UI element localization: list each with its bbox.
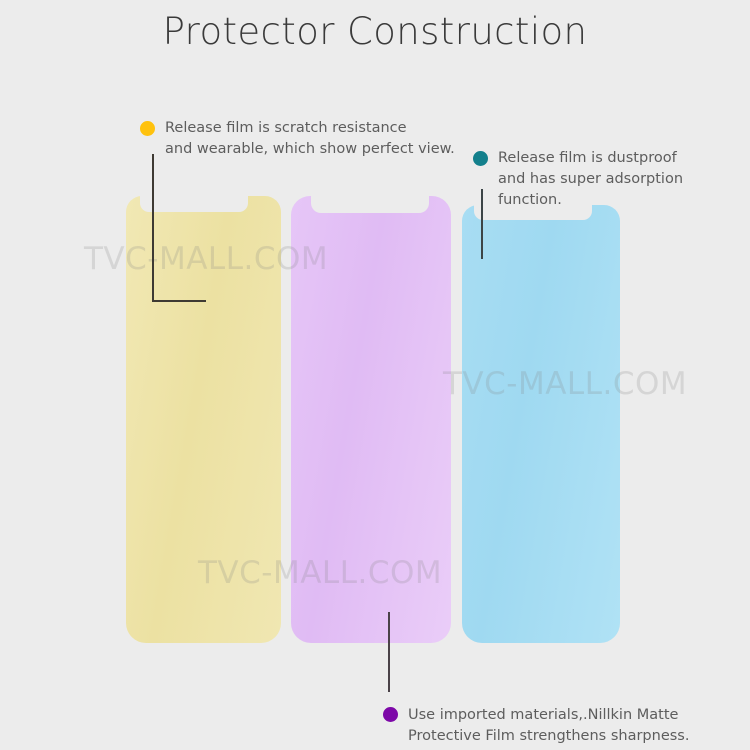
leader-line-purple [388,612,390,692]
annotation-line: function. [498,190,683,211]
annotation-text: Use imported materials,.Nillkin Matte Pr… [408,705,689,747]
protector-layer-pink [291,196,451,643]
bullet-dot-icon [140,121,155,136]
leader-line-yellow-horizontal [152,300,206,302]
bullet-dot-icon [473,151,488,166]
annotation-imported-materials: Use imported materials,.Nillkin Matte Pr… [383,705,689,747]
film-notch-yellow [140,195,248,212]
annotation-line: Release film is dustproof [498,148,683,169]
page-title: Protector Construction [0,10,750,53]
annotation-line: and has super adsorption [498,169,683,190]
annotation-line: Protective Film strengthens sharpness. [408,726,689,747]
annotation-text: Release film is dustproof and has super … [498,148,683,211]
annotation-scratch-resistance: Release film is scratch resistance and w… [140,118,455,160]
leader-line-yellow-vertical [152,154,154,302]
annotation-line: Use imported materials,.Nillkin Matte [408,705,689,726]
annotation-line: Release film is scratch resistance [165,118,455,139]
annotation-text: Release film is scratch resistance and w… [165,118,455,160]
film-notch-pink [311,195,429,213]
product-illustration: Protector Construction TVC-MALL.COM TVC-… [0,0,750,750]
annotation-dustproof: Release film is dustproof and has super … [473,148,683,211]
film-body-pink [291,196,451,643]
film-body-blue [462,205,620,643]
bullet-dot-icon [383,707,398,722]
annotation-line: and wearable, which show perfect view. [165,139,455,160]
protector-layer-yellow [126,196,281,643]
film-body-yellow [126,196,281,643]
protector-layer-blue [462,205,620,643]
